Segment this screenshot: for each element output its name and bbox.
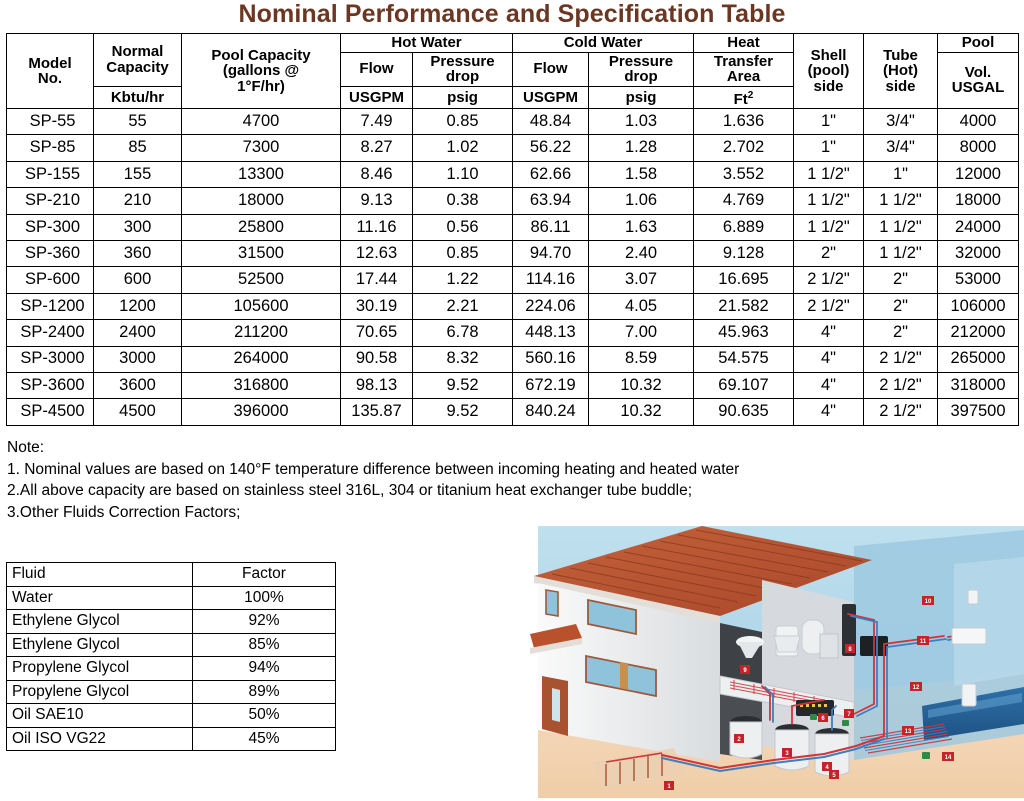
cell-hot-water-pressure-drop-psig: 9.52 — [413, 399, 513, 425]
cell-tube-hot-side: 2 1/2" — [864, 399, 938, 425]
cell-cold-water-pressure-drop-psig: 1.03 — [589, 109, 694, 135]
cell-cold-water-pressure-drop-psig: 2.40 — [589, 240, 694, 266]
cell-model-no: SP-3600 — [7, 372, 94, 398]
header-unit-ft2: Ft2 — [694, 86, 794, 109]
header-model-no-line2: No. — [8, 71, 92, 87]
header-pool-vol-line3: USGAL — [939, 80, 1017, 96]
cell-hot-water-flow-usgpm: 70.65 — [341, 320, 413, 346]
cell-hot-water-pressure-drop-psig: 1.10 — [413, 161, 513, 187]
cell-pool-capacity-gallons-1-f-hr: 7300 — [182, 135, 341, 161]
cell-cold-water-flow-usgpm: 560.16 — [513, 346, 589, 372]
cell-cold-water-flow-usgpm: 48.84 — [513, 109, 589, 135]
cell-pool-capacity-gallons-1-f-hr: 18000 — [182, 188, 341, 214]
cell-tube-hot-side: 2 1/2" — [864, 372, 938, 398]
cell-hot-water-pressure-drop-psig: 8.32 — [413, 346, 513, 372]
cell-pool-vol-usgal: 265000 — [938, 346, 1019, 372]
header-unit-cold-psig: psig — [589, 86, 694, 109]
house-heating-system-illustration: 1 2 3 4 5 6 7 8 9 10 11 12 13 14 — [524, 524, 1024, 801]
cell-pool-capacity-gallons-1-f-hr: 4700 — [182, 109, 341, 135]
cell-hot-water-pressure-drop-psig: 6.78 — [413, 320, 513, 346]
cell-heat-transfer-area-ft2: 90.635 — [694, 399, 794, 425]
cell-hot-water-pressure-drop-psig: 2.21 — [413, 293, 513, 319]
svg-text:11: 11 — [920, 639, 927, 645]
cell-heat-transfer-area-ft2: 3.552 — [694, 161, 794, 187]
cell-cold-water-flow-usgpm: 86.11 — [513, 214, 589, 240]
header-pool-vol: Vol. USGAL — [938, 52, 1019, 109]
cell-pool-vol-usgal: 18000 — [938, 188, 1019, 214]
header-cold-pressure-drop: Pressure drop — [589, 52, 694, 86]
cell-model-no: SP-85 — [7, 135, 94, 161]
header-hot-flow: Flow — [341, 52, 413, 86]
cell-heat-transfer-area-ft2: 45.963 — [694, 320, 794, 346]
fluid-factor: 94% — [193, 657, 336, 681]
fluid-row: Ethylene Glycol92% — [7, 610, 336, 634]
table-row: SP-6006005250017.441.22114.163.0716.6952… — [7, 267, 1019, 293]
cell-heat-transfer-area-ft2: 6.889 — [694, 214, 794, 240]
header-pool-vol-label: Pool — [938, 34, 1019, 53]
cell-shell-pool-side: 4" — [794, 372, 864, 398]
header-pool-capacity-line3: 1°F/hr) — [183, 79, 339, 95]
cell-tube-hot-side: 2" — [864, 320, 938, 346]
header-pool-capacity-line1: Pool Capacity — [183, 48, 339, 64]
cell-pool-capacity-gallons-1-f-hr: 52500 — [182, 267, 341, 293]
cell-hot-water-flow-usgpm: 8.27 — [341, 135, 413, 161]
cell-model-no: SP-55 — [7, 109, 94, 135]
svg-text:10: 10 — [925, 599, 932, 605]
fluid-name: Propylene Glycol — [7, 680, 193, 704]
notes-block: Note: 1. Nominal values are based on 140… — [7, 437, 1007, 523]
cell-cold-water-pressure-drop-psig: 10.32 — [589, 399, 694, 425]
svg-text:13: 13 — [905, 729, 912, 735]
table-row: SP-3000300026400090.588.32560.168.5954.5… — [7, 346, 1019, 372]
cell-cold-water-pressure-drop-psig: 10.32 — [589, 372, 694, 398]
svg-text:12: 12 — [913, 685, 920, 691]
cell-normal-capacity-kbtu-hr: 3600 — [94, 372, 182, 398]
header-normal-capacity: Normal Capacity — [94, 34, 182, 87]
header-pool-capacity: Pool Capacity (gallons @ 1°F/hr) — [182, 34, 341, 109]
fluid-factor: 100% — [193, 586, 336, 610]
cell-cold-water-flow-usgpm: 62.66 — [513, 161, 589, 187]
cell-cold-water-flow-usgpm: 448.13 — [513, 320, 589, 346]
cell-model-no: SP-2400 — [7, 320, 94, 346]
cell-model-no: SP-600 — [7, 267, 94, 293]
header-normal-capacity-line2: Capacity — [95, 60, 180, 76]
cell-hot-water-pressure-drop-psig: 0.38 — [413, 188, 513, 214]
cell-pool-capacity-gallons-1-f-hr: 264000 — [182, 346, 341, 372]
fluid-factor: 89% — [193, 680, 336, 704]
cell-normal-capacity-kbtu-hr: 1200 — [94, 293, 182, 319]
cell-heat-transfer-area-ft2: 1.636 — [694, 109, 794, 135]
header-pool-capacity-line2: (gallons @ — [183, 63, 339, 79]
cell-cold-water-pressure-drop-psig: 1.06 — [589, 188, 694, 214]
cell-hot-water-pressure-drop-psig: 0.56 — [413, 214, 513, 240]
cell-hot-water-flow-usgpm: 9.13 — [341, 188, 413, 214]
header-ht-line3: Area — [695, 69, 792, 85]
cell-hot-water-flow-usgpm: 8.46 — [341, 161, 413, 187]
cell-cold-water-flow-usgpm: 114.16 — [513, 267, 589, 293]
fluid-name: Ethylene Glycol — [7, 610, 193, 634]
cell-pool-capacity-gallons-1-f-hr: 31500 — [182, 240, 341, 266]
cell-tube-hot-side: 3/4" — [864, 135, 938, 161]
cell-heat-transfer-area-ft2: 4.769 — [694, 188, 794, 214]
cell-tube-hot-side: 3/4" — [864, 109, 938, 135]
table-row: SP-45004500396000135.879.52840.2410.3290… — [7, 399, 1019, 425]
cell-shell-pool-side: 1" — [794, 135, 864, 161]
fluid-row: Oil ISO VG2245% — [7, 727, 336, 751]
fluid-factor-table: FluidFactorWater100%Ethylene Glycol92%Et… — [6, 562, 336, 751]
cell-heat-transfer-area-ft2: 69.107 — [694, 372, 794, 398]
header-unit-hot-psig: psig — [413, 86, 513, 109]
cell-pool-vol-usgal: 106000 — [938, 293, 1019, 319]
cell-tube-hot-side: 1 1/2" — [864, 188, 938, 214]
cell-shell-pool-side: 1" — [794, 109, 864, 135]
cell-cold-water-flow-usgpm: 672.19 — [513, 372, 589, 398]
fluid-name: Propylene Glycol — [7, 657, 193, 681]
cell-normal-capacity-kbtu-hr: 3000 — [94, 346, 182, 372]
cell-pool-capacity-gallons-1-f-hr: 211200 — [182, 320, 341, 346]
fluid-row: Propylene Glycol89% — [7, 680, 336, 704]
cell-tube-hot-side: 1 1/2" — [864, 214, 938, 240]
wall-unit-fancoil — [952, 628, 986, 644]
cell-heat-transfer-area-ft2: 16.695 — [694, 267, 794, 293]
fluid-factor: 45% — [193, 727, 336, 751]
table-row: SP-3003002580011.160.5686.111.636.8891 1… — [7, 214, 1019, 240]
cell-hot-water-flow-usgpm: 11.16 — [341, 214, 413, 240]
cell-normal-capacity-kbtu-hr: 155 — [94, 161, 182, 187]
header-shell-line2: (pool) — [795, 63, 862, 79]
note-line-2: 2.All above capacity are based on stainl… — [7, 480, 1007, 502]
header-unit-hot-usgpm: USGPM — [341, 86, 413, 109]
cell-shell-pool-side: 1 1/2" — [794, 161, 864, 187]
cell-hot-water-pressure-drop-psig: 1.02 — [413, 135, 513, 161]
cell-pool-vol-usgal: 4000 — [938, 109, 1019, 135]
fluid-row: Ethylene Glycol85% — [7, 633, 336, 657]
cell-normal-capacity-kbtu-hr: 55 — [94, 109, 182, 135]
door-glass — [552, 688, 560, 722]
header-pool-vol-line2: Vol. — [939, 65, 1017, 81]
cell-pool-vol-usgal: 8000 — [938, 135, 1019, 161]
cell-cold-water-flow-usgpm: 94.70 — [513, 240, 589, 266]
cell-tube-hot-side: 1 1/2" — [864, 240, 938, 266]
fluid-name: Oil SAE10 — [7, 704, 193, 728]
cell-pool-capacity-gallons-1-f-hr: 396000 — [182, 399, 341, 425]
cell-cold-water-pressure-drop-psig: 7.00 — [589, 320, 694, 346]
header-unit-cold-usgpm: USGPM — [513, 86, 589, 109]
cell-heat-transfer-area-ft2: 54.575 — [694, 346, 794, 372]
header-cold-flow: Flow — [513, 52, 589, 86]
cell-pool-capacity-gallons-1-f-hr: 25800 — [182, 214, 341, 240]
header-cold-water: Cold Water — [513, 34, 694, 53]
cell-hot-water-pressure-drop-psig: 0.85 — [413, 240, 513, 266]
cell-cold-water-pressure-drop-psig: 3.07 — [589, 267, 694, 293]
cell-pool-vol-usgal: 212000 — [938, 320, 1019, 346]
cell-pool-vol-usgal: 24000 — [938, 214, 1019, 240]
cell-normal-capacity-kbtu-hr: 85 — [94, 135, 182, 161]
header-cold-pd-line1: Pressure — [590, 54, 692, 70]
spec-table-container: Model No. Normal Capacity Pool Capacity … — [6, 33, 1018, 426]
header-heat-transfer-area: Transfer Area — [694, 52, 794, 86]
cell-normal-capacity-kbtu-hr: 600 — [94, 267, 182, 293]
cell-cold-water-pressure-drop-psig: 1.63 — [589, 214, 694, 240]
table-row: SP-3603603150012.630.8594.702.409.1282"1… — [7, 240, 1019, 266]
header-tube-line2: (Hot) — [865, 63, 936, 79]
fluid-factor: 85% — [193, 633, 336, 657]
fluid-name: Oil ISO VG22 — [7, 727, 193, 751]
page-title: Nominal Performance and Specification Ta… — [0, 0, 1024, 30]
cell-tube-hot-side: 1" — [864, 161, 938, 187]
fluid-factor: 92% — [193, 610, 336, 634]
cell-shell-pool-side: 2 1/2" — [794, 267, 864, 293]
header-cold-pd-line2: drop — [590, 69, 692, 85]
cell-normal-capacity-kbtu-hr: 2400 — [94, 320, 182, 346]
cell-shell-pool-side: 1 1/2" — [794, 214, 864, 240]
cell-normal-capacity-kbtu-hr: 300 — [94, 214, 182, 240]
table-row: SP-155155133008.461.1062.661.583.5521 1/… — [7, 161, 1019, 187]
table-row: SP-210210180009.130.3863.941.064.7691 1/… — [7, 188, 1019, 214]
fluid-header-fluid: Fluid — [7, 563, 193, 587]
cell-model-no: SP-360 — [7, 240, 94, 266]
spec-table-head: Model No. Normal Capacity Pool Capacity … — [7, 34, 1019, 109]
cell-shell-pool-side: 4" — [794, 346, 864, 372]
fluid-header-row: FluidFactor — [7, 563, 336, 587]
cell-hot-water-flow-usgpm: 90.58 — [341, 346, 413, 372]
wall-radiator — [962, 684, 976, 706]
cell-heat-transfer-area-ft2: 2.702 — [694, 135, 794, 161]
header-unit-kbtu: Kbtu/hr — [94, 86, 182, 109]
cell-model-no: SP-4500 — [7, 399, 94, 425]
cell-cold-water-flow-usgpm: 56.22 — [513, 135, 589, 161]
fluid-row: Water100% — [7, 586, 336, 610]
fluid-name: Water — [7, 586, 193, 610]
cell-cold-water-pressure-drop-psig: 8.59 — [589, 346, 694, 372]
cell-hot-water-pressure-drop-psig: 1.22 — [413, 267, 513, 293]
cell-pool-vol-usgal: 12000 — [938, 161, 1019, 187]
table-row: SP-555547007.490.8548.841.031.6361"3/4"4… — [7, 109, 1019, 135]
cell-hot-water-pressure-drop-psig: 9.52 — [413, 372, 513, 398]
table-row: SP-858573008.271.0256.221.282.7021"3/4"8… — [7, 135, 1019, 161]
cell-cold-water-flow-usgpm: 224.06 — [513, 293, 589, 319]
fluid-header-factor: Factor — [193, 563, 336, 587]
cell-hot-water-flow-usgpm: 17.44 — [341, 267, 413, 293]
header-normal-capacity-line1: Normal — [95, 44, 180, 60]
cell-tube-hot-side: 2 1/2" — [864, 346, 938, 372]
header-tube-line3: side — [865, 79, 936, 95]
cell-cold-water-pressure-drop-psig: 4.05 — [589, 293, 694, 319]
cell-shell-pool-side: 2" — [794, 240, 864, 266]
cell-normal-capacity-kbtu-hr: 210 — [94, 188, 182, 214]
cell-shell-pool-side: 2 1/2" — [794, 293, 864, 319]
header-shell-side: Shell (pool) side — [794, 34, 864, 109]
note-line-1: 1. Nominal values are based on 140°F tem… — [7, 459, 1007, 481]
fluid-row: Propylene Glycol94% — [7, 657, 336, 681]
wall-thermostat — [968, 590, 978, 604]
cell-heat-transfer-area-ft2: 21.582 — [694, 293, 794, 319]
glass-panel — [954, 557, 1024, 686]
header-model-no-line1: Model — [8, 56, 92, 72]
cell-hot-water-flow-usgpm: 30.19 — [341, 293, 413, 319]
cell-shell-pool-side: 1 1/2" — [794, 188, 864, 214]
cell-shell-pool-side: 4" — [794, 399, 864, 425]
cell-cold-water-pressure-drop-psig: 1.58 — [589, 161, 694, 187]
cell-pool-capacity-gallons-1-f-hr: 105600 — [182, 293, 341, 319]
table-row: SP-3600360031680098.139.52672.1910.3269.… — [7, 372, 1019, 398]
cell-pool-vol-usgal: 397500 — [938, 399, 1019, 425]
svg-text:14: 14 — [945, 755, 952, 761]
header-heat-label: Heat — [694, 34, 794, 53]
cell-hot-water-flow-usgpm: 98.13 — [341, 372, 413, 398]
cell-tube-hot-side: 2" — [864, 293, 938, 319]
cell-cold-water-flow-usgpm: 63.94 — [513, 188, 589, 214]
cell-normal-capacity-kbtu-hr: 360 — [94, 240, 182, 266]
note-line-3: 3.Other Fluids Correction Factors; — [7, 502, 1007, 524]
header-model-no: Model No. — [7, 34, 94, 109]
specification-table: Model No. Normal Capacity Pool Capacity … — [6, 33, 1019, 426]
header-unit-ft2-base: Ft — [734, 91, 748, 108]
cell-model-no: SP-155 — [7, 161, 94, 187]
cell-model-no: SP-1200 — [7, 293, 94, 319]
header-tube-side: Tube (Hot) side — [864, 34, 938, 109]
header-hot-pd-line2: drop — [414, 69, 511, 85]
cell-hot-water-flow-usgpm: 135.87 — [341, 399, 413, 425]
cell-hot-water-pressure-drop-psig: 0.85 — [413, 109, 513, 135]
table-row: SP-1200120010560030.192.21224.064.0521.5… — [7, 293, 1019, 319]
header-hot-water: Hot Water — [341, 34, 513, 53]
cell-model-no: SP-3000 — [7, 346, 94, 372]
header-shell-line3: side — [795, 79, 862, 95]
cell-hot-water-flow-usgpm: 7.49 — [341, 109, 413, 135]
cell-model-no: SP-300 — [7, 214, 94, 240]
cell-cold-water-flow-usgpm: 840.24 — [513, 399, 589, 425]
cell-hot-water-flow-usgpm: 12.63 — [341, 240, 413, 266]
cell-model-no: SP-210 — [7, 188, 94, 214]
header-hot-pd-line1: Pressure — [414, 54, 511, 70]
header-row-1: Model No. Normal Capacity Pool Capacity … — [7, 34, 1019, 53]
cell-pool-vol-usgal: 53000 — [938, 267, 1019, 293]
notes-heading: Note: — [7, 437, 1007, 459]
cell-tube-hot-side: 2" — [864, 267, 938, 293]
header-ht-line2: Transfer — [695, 54, 792, 70]
header-shell-line1: Shell — [795, 48, 862, 64]
cell-pool-capacity-gallons-1-f-hr: 316800 — [182, 372, 341, 398]
spec-table-body: SP-555547007.490.8548.841.031.6361"3/4"4… — [7, 109, 1019, 426]
fluid-factor-table-container: FluidFactorWater100%Ethylene Glycol92%Et… — [6, 562, 336, 751]
cell-shell-pool-side: 4" — [794, 320, 864, 346]
fluid-table-body: FluidFactorWater100%Ethylene Glycol92%Et… — [7, 563, 336, 751]
cell-cold-water-pressure-drop-psig: 1.28 — [589, 135, 694, 161]
cell-pool-vol-usgal: 318000 — [938, 372, 1019, 398]
fluid-row: Oil SAE1050% — [7, 704, 336, 728]
header-hot-pressure-drop: Pressure drop — [413, 52, 513, 86]
table-row: SP-2400240021120070.656.78448.137.0045.9… — [7, 320, 1019, 346]
header-tube-line1: Tube — [865, 48, 936, 64]
cell-pool-vol-usgal: 32000 — [938, 240, 1019, 266]
fluid-name: Ethylene Glycol — [7, 633, 193, 657]
cell-normal-capacity-kbtu-hr: 4500 — [94, 399, 182, 425]
cell-heat-transfer-area-ft2: 9.128 — [694, 240, 794, 266]
cell-pool-capacity-gallons-1-f-hr: 13300 — [182, 161, 341, 187]
header-unit-ft2-exponent: 2 — [748, 90, 754, 101]
fluid-factor: 50% — [193, 704, 336, 728]
